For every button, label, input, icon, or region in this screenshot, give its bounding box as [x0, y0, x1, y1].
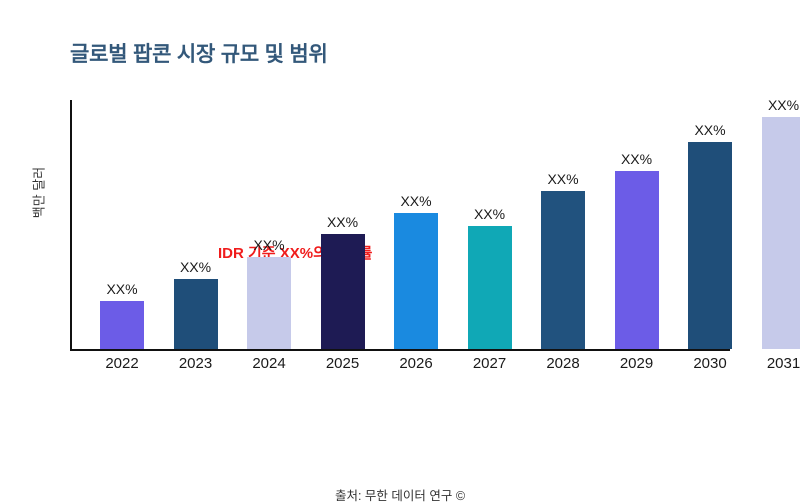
bar-2026[interactable]: [394, 213, 438, 349]
bar-value-label-2031: XX%: [752, 97, 800, 113]
bar-group: XX%: [100, 100, 144, 351]
x-tick-2025: 2025: [311, 355, 375, 372]
x-tick-2026: 2026: [384, 355, 448, 372]
bar-value-label-2026: XX%: [384, 193, 448, 209]
bar-group: XX%: [762, 100, 800, 351]
bar-group: XX%: [615, 100, 659, 351]
bar-group: XX%: [541, 100, 585, 351]
x-axis-tick-labels: 2022202320242025202620272028202920302031: [70, 355, 782, 377]
bar-2030[interactable]: [688, 142, 732, 349]
bar-group: XX%: [468, 100, 512, 351]
x-tick-2027: 2027: [458, 355, 522, 372]
plot-area: IDR 기준 XX%의 성장률 XX%XX%XX%XX%XX%XX%XX%XX%…: [70, 100, 782, 351]
bar-2031[interactable]: [762, 117, 800, 349]
bar-value-label-2030: XX%: [678, 122, 742, 138]
bar-value-label-2029: XX%: [605, 151, 669, 167]
x-tick-2031: 2031: [752, 355, 800, 372]
chart-container: 글로벌 팝콘 시장 규모 및 범위 백만 달러 IDR 기준 XX%의 성장률 …: [0, 0, 800, 450]
bar-2027[interactable]: [468, 226, 512, 349]
x-tick-2029: 2029: [605, 355, 669, 372]
bar-group: XX%: [321, 100, 365, 351]
x-tick-2030: 2030: [678, 355, 742, 372]
bar-value-label-2025: XX%: [311, 214, 375, 230]
x-tick-2024: 2024: [237, 355, 301, 372]
bar-2028[interactable]: [541, 191, 585, 349]
bar-group: XX%: [688, 100, 732, 351]
y-axis-label: 백만 달러: [29, 143, 48, 243]
x-tick-2022: 2022: [90, 355, 154, 372]
bar-2024[interactable]: [247, 257, 291, 349]
bar-group: XX%: [174, 100, 218, 351]
y-axis-line: [70, 100, 72, 351]
x-tick-2028: 2028: [531, 355, 595, 372]
bar-value-label-2027: XX%: [458, 206, 522, 222]
bar-value-label-2022: XX%: [90, 281, 154, 297]
bar-2029[interactable]: [615, 171, 659, 349]
bar-2025[interactable]: [321, 234, 365, 349]
bar-group: XX%: [394, 100, 438, 351]
bar-value-label-2024: XX%: [237, 237, 301, 253]
bar-value-label-2023: XX%: [164, 259, 228, 275]
source-note: 출처: 무한 데이터 연구 ©: [70, 485, 730, 504]
page-title: 글로벌 팝콘 시장 규모 및 범위: [70, 38, 328, 68]
bar-2022[interactable]: [100, 301, 144, 349]
x-tick-2023: 2023: [164, 355, 228, 372]
bar-value-label-2028: XX%: [531, 171, 595, 187]
bar-2023[interactable]: [174, 279, 218, 349]
bar-group: XX%: [247, 100, 291, 351]
